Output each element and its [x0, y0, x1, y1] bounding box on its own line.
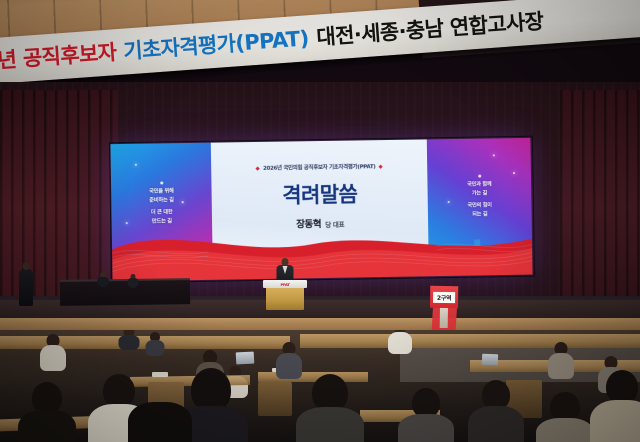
audience-person — [590, 370, 640, 442]
podium: PPAT — [263, 280, 307, 310]
sparkle-icon — [182, 201, 184, 203]
sparkle-icon — [135, 164, 137, 166]
zone-sign-board: 2구역 — [430, 286, 458, 308]
exam-paper — [152, 372, 168, 377]
zone-sign-label: 2구역 — [433, 291, 455, 302]
slide-eyebrow: 2026년 국민의힘 공직후보자 기초자격평가(PPAT) — [211, 161, 427, 172]
banner-segment-blue: 기초자격평가(PPAT) — [123, 28, 310, 62]
audience-person — [468, 380, 524, 442]
laptop — [482, 354, 498, 366]
laptop — [236, 352, 255, 365]
slide-eyebrow-text: 2026년 국민의힘 공직후보자 기초자격평가(PPAT) — [263, 164, 376, 172]
sparkle-icon — [513, 172, 515, 174]
sparkle-icon — [448, 201, 450, 203]
audience-seating — [0, 330, 640, 442]
photo-scene: 26년 공직후보자 기초자격평가(PPAT) 대전·세종·충남 연합고사장 — [0, 0, 640, 442]
audience-person — [388, 330, 412, 352]
slide-wave-graphic — [112, 213, 533, 282]
audience-person — [18, 382, 76, 442]
desk-row — [300, 334, 640, 348]
podium-nameplate: PPAT — [263, 280, 307, 288]
banner-segment-black: 대전·세종·충남 연합고사장 — [316, 11, 544, 48]
diamond-icon — [256, 166, 260, 170]
slogan-dot-icon — [478, 175, 481, 178]
seated-official — [126, 274, 139, 287]
standing-staff-person — [18, 262, 34, 306]
head-table — [60, 280, 190, 306]
audience-person — [296, 374, 364, 442]
audience-person — [536, 392, 594, 442]
slide-title: 격려말씀 — [211, 183, 427, 207]
chair — [258, 382, 292, 416]
audience-person — [40, 334, 66, 368]
projection-screen: 국민을 위해 준비하는 길 더 큰 대한 만드는 길 — [110, 138, 532, 282]
zone-sign-pole — [440, 306, 448, 328]
diamond-icon — [379, 164, 383, 168]
banner-segment-red: 26년 공직후보자 — [0, 42, 117, 74]
stage-curtain-right — [560, 90, 640, 305]
audience-person — [145, 332, 165, 354]
zone-sign: 2구역 — [426, 286, 463, 326]
podium-label: PPAT — [280, 282, 289, 287]
slogan-dot-icon — [160, 181, 163, 184]
audience-person — [548, 342, 574, 378]
audience-person — [276, 342, 302, 378]
audience-person — [118, 330, 140, 348]
sparkle-icon — [493, 154, 495, 156]
audience-person — [128, 402, 192, 442]
audience-person — [398, 388, 454, 442]
seated-official — [96, 272, 110, 286]
